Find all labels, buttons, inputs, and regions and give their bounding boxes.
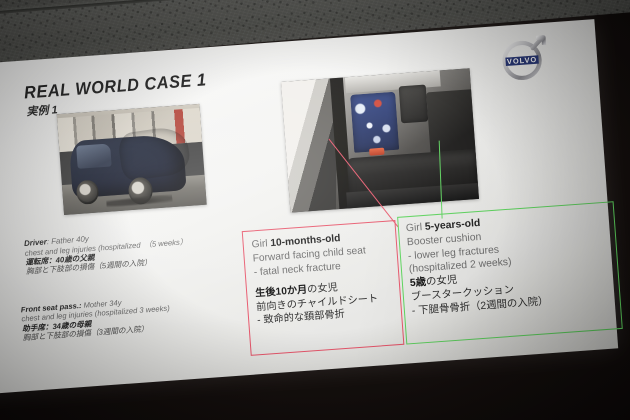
volvo-logo-icon: VOLVO [493,28,555,90]
driver-info-block: Driver: Father 40y chest and leg injurie… [24,227,189,276]
slide-subtitle: 実例 1 [26,101,58,119]
callout1-line1-jp-rest: の女児 [307,282,338,295]
slide-surface: REAL WORLD CASE 1 実例 1 [0,19,618,395]
photo-crashed-vehicle [57,104,207,215]
callout2-line1-jp-rest: の女児 [426,275,458,288]
photo-vehicle-interior [281,68,479,212]
front-passenger-info-block: Front seat pass.: Mother 34y chest and l… [21,295,172,343]
slide-title: REAL WORLD CASE 1 [23,69,207,103]
callout2-line1-jp-bold: 5歳 [410,277,427,289]
screenshot-stage: REAL WORLD CASE 1 実例 1 [0,0,630,420]
projected-slide: REAL WORLD CASE 1 実例 1 [0,19,618,395]
callout1-line1-jp-bold: 生後10か月 [255,284,308,299]
callout2-title-prefix: Girl [406,222,426,234]
child-seat-region [350,92,399,153]
callout-box-girl-10-months: Girl 10-months-old Forward facing child … [242,220,405,356]
callout1-title-prefix: Girl [251,238,270,250]
callout-box-girl-5-years: Girl 5-years-old Booster cushion - lower… [397,201,623,344]
volvo-wordmark: VOLVO [507,55,538,66]
